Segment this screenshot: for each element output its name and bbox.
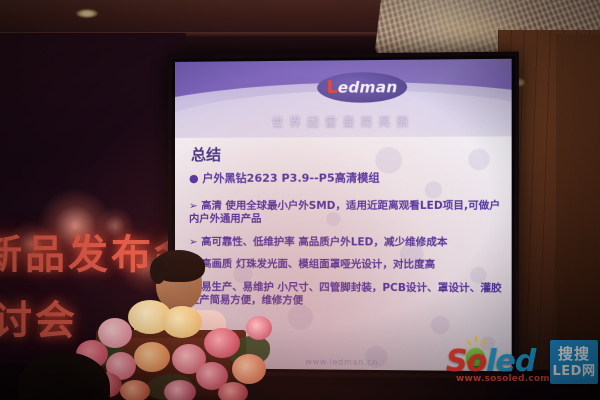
slide-bullet: ● 户外黑钻2623 P3.9--P5高清模组 [189,171,503,186]
watermark-overlay: Soled www.sosoled.com 搜搜 LED网 [446,340,598,392]
photo-scene: 新品发布会 讨会 Ledman 世界因雷曼而亮丽 [0,0,600,400]
slide-bullet: ➢ 高可靠性、低维护率 高品质户外LED，减少维修成本 [189,236,503,250]
decorative-bubble [468,149,490,170]
light-ray-icon [475,336,477,343]
logo-wordmark: edman [338,78,398,97]
slide-bullet: ➢ 高画质 灯珠发光面、模组面罩哑光设计，对比度高 [189,258,503,273]
watermark-url: www.sosoled.com [456,374,550,384]
orange-flower [134,342,170,372]
slide-title: 总结 [191,144,221,165]
slide-bullet: ➢ 高清 使用全球最小户外SMD，适用近距离观看LED项目,可做户内户外通用产品 [189,199,503,227]
pink-flower [204,328,240,358]
company-tagline: 世界因雷曼而亮丽 [272,112,415,129]
watermark-badge-line2: LED网 [553,365,596,378]
wood-panel-wall-far [556,34,600,370]
watermark-badge: 搜搜 LED网 [550,340,598,384]
pink-flower [246,316,272,340]
logo-initial: L [327,78,338,98]
slide-header-band: Ledman 世界因雷曼而亮丽 [175,59,512,138]
red-flower [218,382,248,400]
watermark-badge-line1: 搜搜 [558,347,590,362]
banner-headline-secondary: 讨会 [0,288,78,346]
lily-flower [162,306,202,338]
orange-flower [232,354,266,384]
speaker-hair-side [150,258,166,284]
ceiling-downlight [76,9,98,18]
decorative-bubble [375,147,402,173]
orange-flower [120,380,150,400]
pink-flower [164,380,196,400]
